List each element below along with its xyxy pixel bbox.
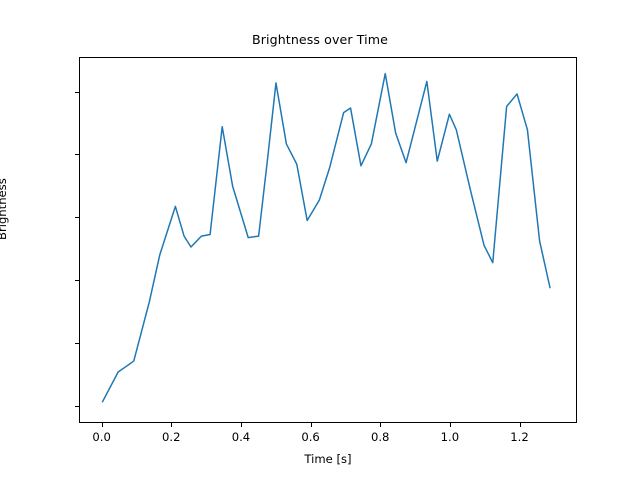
- x-tick-label: 0.4: [201, 430, 281, 444]
- series-polyline: [103, 74, 550, 402]
- x-tick-label: 0.8: [340, 430, 420, 444]
- x-tick-mark: [311, 423, 312, 427]
- x-tick-mark: [241, 423, 242, 427]
- x-tick-mark: [171, 423, 172, 427]
- x-tick-mark: [102, 423, 103, 427]
- y-axis-label: Brightness: [0, 178, 9, 240]
- x-tick-label: 0.2: [131, 430, 211, 444]
- x-tick-label: 1.0: [410, 430, 490, 444]
- matplotlib-figure: Brightness over Time Brightness Time [s]…: [0, 0, 640, 480]
- x-tick-label: 0.6: [271, 430, 351, 444]
- x-axis-label: Time [s]: [79, 452, 577, 466]
- x-tick-label: 0.0: [62, 430, 142, 444]
- page-title: Brightness over Time: [0, 32, 640, 47]
- x-tick-mark: [520, 423, 521, 427]
- x-tick-mark: [450, 423, 451, 427]
- x-tick-mark: [380, 423, 381, 427]
- x-tick-label: 1.2: [480, 430, 560, 444]
- plot-area: [79, 57, 577, 423]
- line-series-brightness: [80, 58, 576, 422]
